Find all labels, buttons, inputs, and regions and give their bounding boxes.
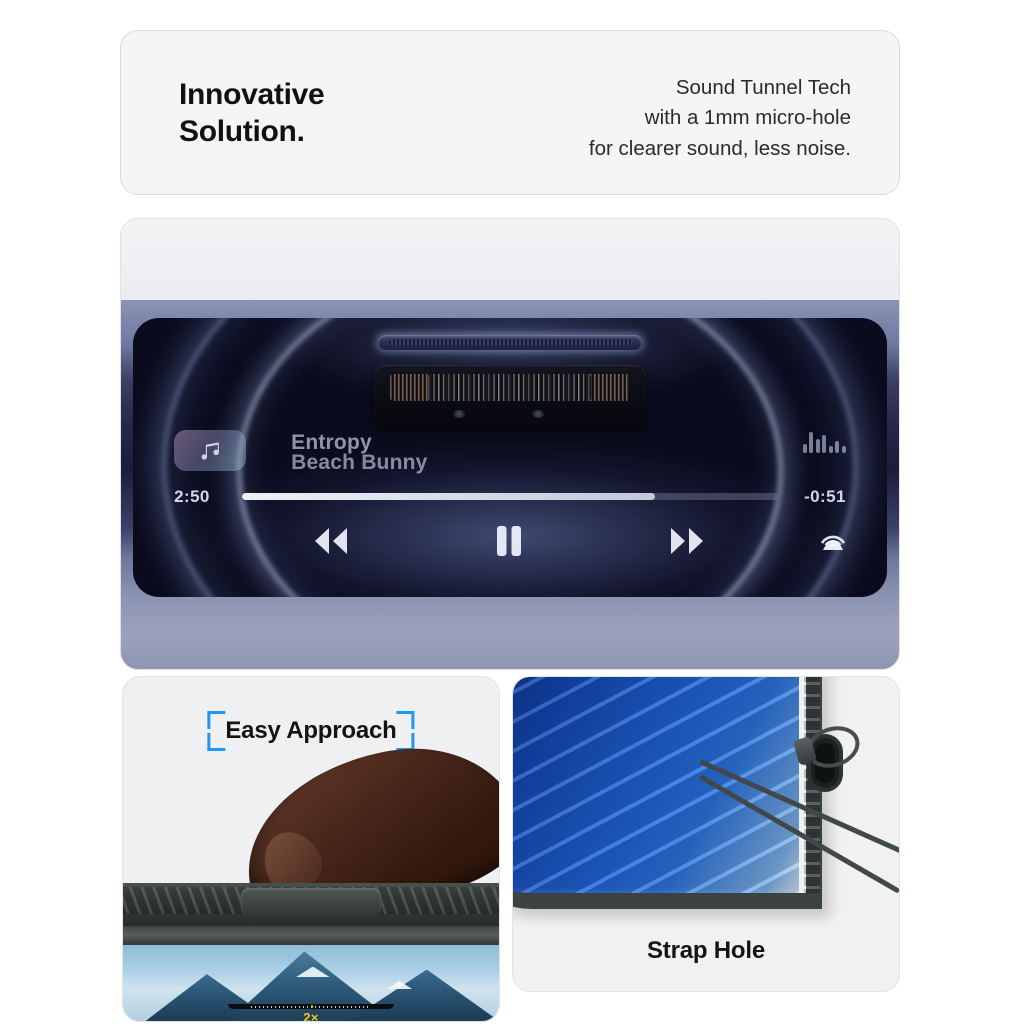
speaker-grille-center [428, 374, 591, 401]
case-edge [122, 883, 500, 928]
case-camera-button[interactable] [241, 888, 382, 916]
airplay-icon [816, 525, 850, 557]
headline-line-1: Innovative [179, 77, 324, 114]
bracket-top-right-icon [397, 711, 415, 729]
header-card: Innovative Solution. Sound Tunnel Tech w… [120, 30, 900, 195]
playback-progress-row: 2:50 -0:51 [133, 487, 888, 507]
bracket-bottom-left-icon [207, 733, 225, 751]
fast-forward-icon [657, 525, 717, 557]
fast-forward-button[interactable] [657, 525, 717, 557]
subcopy-line-2: with a 1mm micro-hole [589, 103, 851, 133]
page-title: Innovative Solution. [179, 77, 324, 150]
speaker-screw-right [532, 410, 544, 419]
audio-waveform-icon [803, 431, 846, 453]
rewind-icon [301, 525, 361, 557]
easy-approach-panel: Easy Approach 2× [122, 676, 500, 1022]
airplay-button[interactable] [816, 525, 850, 557]
zoom-value-label: 2× [303, 1010, 318, 1021]
product-feature-page: Innovative Solution. Sound Tunnel Tech w… [0, 0, 1024, 1024]
bracket-top-left-icon [207, 711, 225, 729]
header-subcopy: Sound Tunnel Tech with a 1mm micro-hole … [589, 73, 851, 164]
music-note-icon [188, 438, 232, 464]
case-side-band [122, 926, 500, 945]
strap-hole-label: Strap Hole [513, 937, 899, 965]
subcopy-line-3: for clearer sound, less noise. [589, 134, 851, 164]
camera-viewfinder: 2× [123, 945, 499, 1021]
track-artist: Beach Bunny [291, 451, 427, 475]
remaining-time: -0:51 [794, 487, 846, 507]
camera-control-notch [228, 1004, 393, 1009]
hero-card: Entropy Beach Bunny 2:50 -0:51 [120, 218, 900, 670]
mountain-right [349, 970, 499, 1021]
strap-hole-panel: Strap Hole [512, 676, 900, 992]
progress-fill [242, 493, 654, 500]
speaker-module [374, 365, 646, 426]
phone-screen: Entropy Beach Bunny 2:50 -0:51 [133, 318, 888, 597]
subcopy-line-1: Sound Tunnel Tech [589, 73, 851, 103]
playback-controls [133, 524, 888, 558]
elapsed-time: 2:50 [174, 487, 226, 507]
easy-approach-label-frame: Easy Approach [207, 711, 414, 751]
rewind-button[interactable] [301, 525, 361, 557]
music-app-icon[interactable] [174, 430, 246, 472]
speaker-screw-left [453, 410, 465, 419]
speaker-slot [378, 335, 642, 350]
pause-icon [492, 524, 526, 558]
headline-line-2: Solution. [179, 114, 324, 151]
progress-slider[interactable] [242, 493, 778, 500]
easy-approach-label: Easy Approach [225, 717, 396, 744]
pause-button[interactable] [492, 524, 526, 558]
